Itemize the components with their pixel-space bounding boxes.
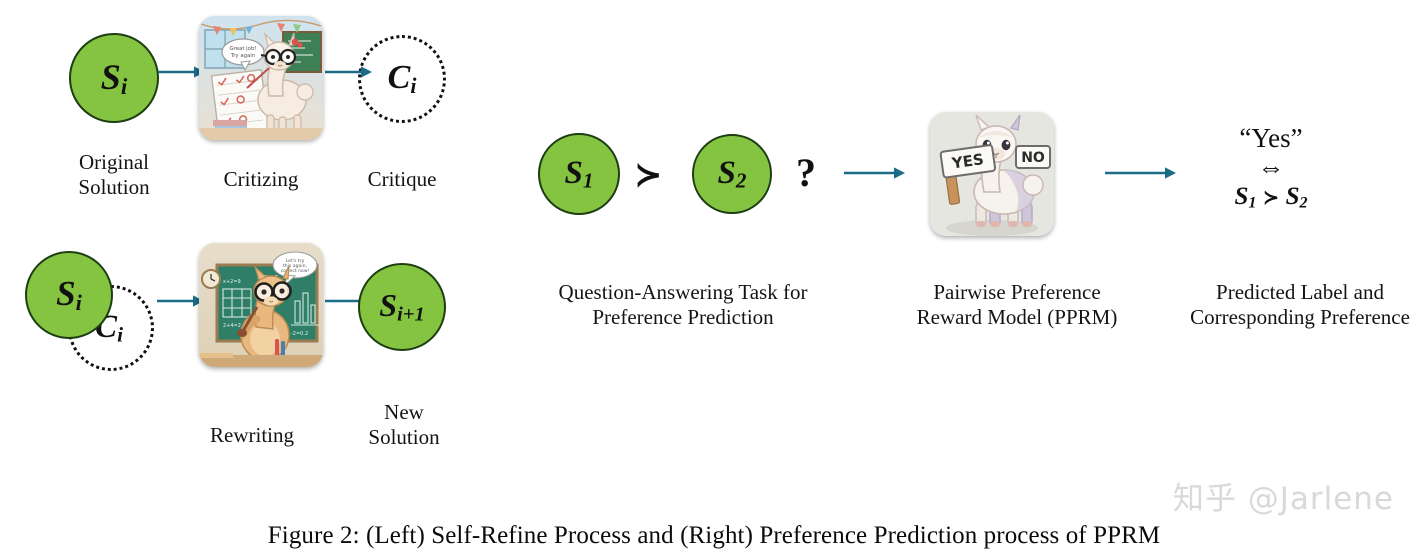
figure-caption: Figure 2: (Left) Self-Refine Process and… xyxy=(0,522,1428,550)
arrow-critizing-to-critique xyxy=(325,64,373,80)
node-solution-one-label: S1 xyxy=(565,155,594,194)
svg-text:x+2=9: x+2=9 xyxy=(223,279,241,285)
arrow-solution-to-rewriting xyxy=(157,293,205,309)
question-mark: ? xyxy=(796,149,816,196)
node-critique-label: Ci xyxy=(388,59,417,99)
caption-predicted-label-and-preference: Predicted Label and Corresponding Prefer… xyxy=(1155,280,1428,329)
left-panel-self-refine: Si xyxy=(0,0,500,470)
node-original-solution: Si xyxy=(69,33,159,123)
llama-yes-no-thumbnail: YES NO xyxy=(930,112,1054,236)
node-new-solution-label: Si+1 xyxy=(379,287,424,327)
svg-text:2+4=2: 2+4=2 xyxy=(223,323,241,329)
equivalence-symbol: ⇔ xyxy=(1176,152,1366,183)
svg-text:-2=0.2: -2=0.2 xyxy=(291,331,308,337)
svg-text:NO: NO xyxy=(1021,150,1045,166)
svg-text:Great job!: Great job! xyxy=(229,46,256,52)
node-solution-one: S1 xyxy=(538,133,620,215)
caption-question-answering-task: Question-Answering Task for Preference P… xyxy=(508,280,858,329)
predicted-answer: “Yes” xyxy=(1176,123,1366,154)
label-critique: Critique xyxy=(332,167,472,192)
svg-text:Try again: Try again xyxy=(230,53,256,59)
arrow-query-to-pprm xyxy=(844,165,906,181)
caption-pairwise-preference-reward-model: Pairwise Preference Reward Model (PPRM) xyxy=(872,280,1162,329)
arrow-pprm-to-output xyxy=(1105,165,1177,181)
node-current-solution-label: Si xyxy=(56,274,82,316)
label-critizing: Critizing xyxy=(191,167,331,192)
preference-relation-symbol: ≻ xyxy=(634,155,663,195)
label-new-solution: New Solution xyxy=(334,400,474,449)
right-panel-preference-prediction: S1 ≻ S2 ? xyxy=(500,0,1428,470)
node-current-solution: Si xyxy=(25,251,113,339)
figure-root: Si xyxy=(0,0,1428,558)
node-original-solution-label: Si xyxy=(101,56,127,100)
label-original-solution: Original Solution xyxy=(44,150,184,199)
llama-rewriting-thumbnail: x+2=93+2x=7 x=2-2x+3 2+4=22- -2=0.2 Let'… xyxy=(199,243,323,367)
llama-critiquing-thumbnail: Great job! Try again xyxy=(199,16,323,140)
predicted-preference-expression: S1 ≻ S2 xyxy=(1176,183,1366,213)
label-rewriting: Rewriting xyxy=(182,423,322,448)
zhihu-watermark: 知乎 @Jarlene xyxy=(1173,473,1394,518)
node-solution-two-label: S2 xyxy=(718,155,747,194)
node-solution-two: S2 xyxy=(692,134,772,214)
node-new-solution: Si+1 xyxy=(358,263,446,351)
